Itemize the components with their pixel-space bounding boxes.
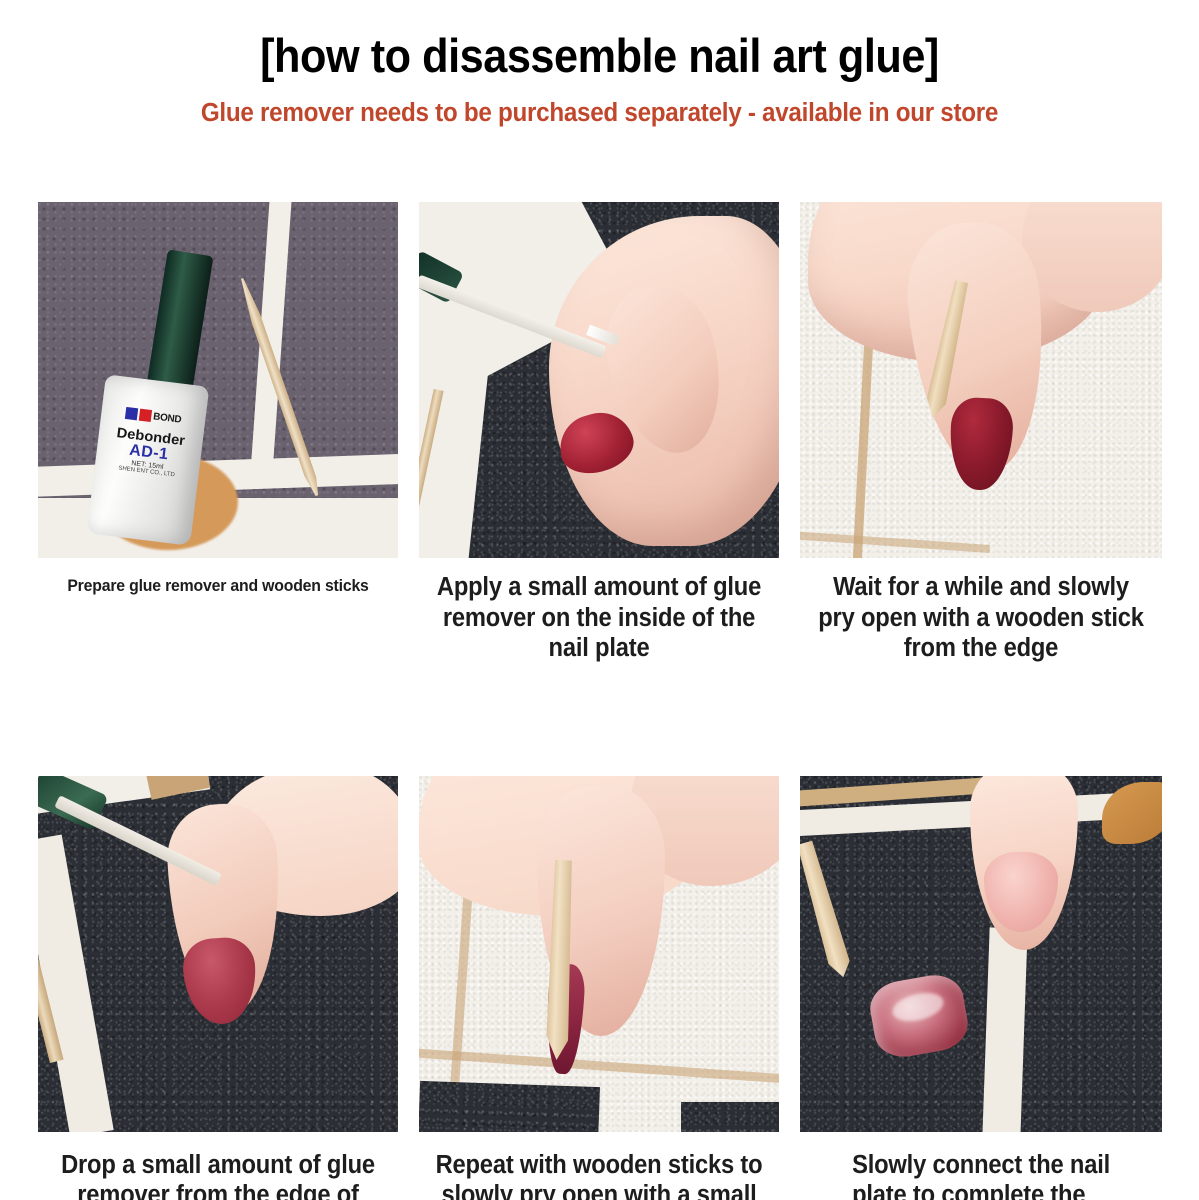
background-leaf-shape [1102,782,1162,844]
bottle-label: BOND Debonder AD-1 NET: 15ml SHEN ENT CO… [95,400,207,481]
steps-grid: BOND Debonder AD-1 NET: 15ml SHEN ENT CO… [38,202,1162,1200]
logo-square-red [139,409,152,422]
step-caption-5: Repeat with wooden sticks to slowly pry … [432,1132,767,1200]
step-photo-4 [38,776,398,1132]
towel-stripe-bottom [800,531,990,553]
page-subtitle: Glue remover needs to be purchased separ… [30,99,1169,128]
step-card-5: Repeat with wooden sticks to slowly pry … [419,776,779,1200]
step-card-3: Wait for a while and slowly pry open wit… [800,202,1162,664]
wooden-stick [800,839,855,980]
step-card-6: Slowly connect the nail plate to complet… [800,776,1162,1200]
background-strip-vertical [250,202,292,482]
step-card-2: Apply a small amount of glue remover on … [419,202,779,664]
infographic-page: [how to disassemble nail art glue] Glue … [0,0,1199,1200]
page-title: [how to disassemble nail art glue] [48,30,1151,83]
logo-square-blue [125,407,138,420]
background-tan-patch [146,776,211,800]
background-strip-vertical [982,927,1027,1132]
glue-remover-bottle: BOND Debonder AD-1 NET: 15ml SHEN ENT CO… [87,374,210,545]
background-dark-patch-left [419,1081,600,1132]
background-strip-vertical [38,834,114,1132]
page-header: [how to disassemble nail art glue] Glue … [0,0,1199,128]
step-photo-1: BOND Debonder AD-1 NET: 15ml SHEN ENT CO… [38,202,398,558]
step-caption-6: Slowly connect the nail plate to complet… [800,1132,1137,1200]
towel-stripe-horizontal [419,1048,779,1085]
step-caption-2: Apply a small amount of glue remover on … [432,558,767,664]
step-caption-3: Wait for a while and slowly pry open wit… [813,558,1150,664]
red-nail [948,396,1015,491]
step-photo-2 [419,202,779,558]
step-card-1: BOND Debonder AD-1 NET: 15ml SHEN ENT CO… [38,202,398,664]
step-card-4: Drop a small amount of glue remover from… [38,776,398,1200]
step-photo-3 [800,202,1162,558]
red-nail [181,935,259,1026]
background-dark-patch-right [681,1102,779,1132]
step-photo-5 [419,776,779,1132]
step-caption-1: Prepare glue remover and wooden sticks [51,558,386,596]
bottle-brand: BOND [153,411,182,425]
step-photo-6 [800,776,1162,1132]
step-caption-4: Drop a small amount of glue remover from… [51,1132,386,1200]
